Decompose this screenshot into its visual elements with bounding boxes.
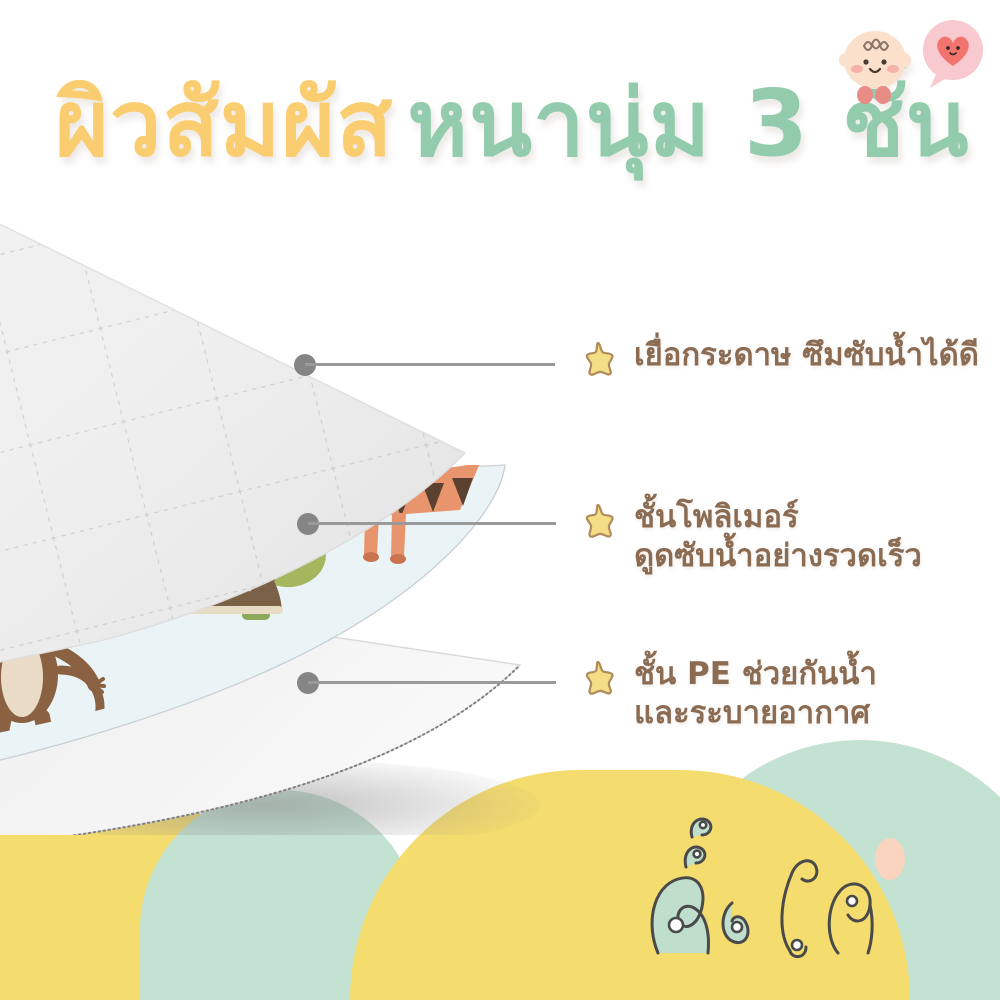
feature-item-pulp: เยื่อกระดาษ ซึมซับน้ำได้ดี — [578, 336, 979, 384]
star-icon — [578, 502, 618, 546]
headline-part-1: ผิวสัมผัส — [55, 78, 393, 170]
feature-item-pe: ชั้น PE ช่วยกันน้ำ และระบายอากาศ — [578, 655, 877, 733]
product-layers-illustration — [0, 165, 660, 835]
leader-line — [308, 681, 556, 684]
feature-text: เยื่อกระดาษ ซึมซับน้ำได้ดี — [634, 336, 979, 375]
egg-icon — [875, 838, 905, 880]
leader-line — [308, 522, 556, 525]
poster-canvas: ผิวสัมผัสหนานุ่ม 3 ชั้น เยื่อกระดาษ ซึมซ… — [0, 0, 1000, 1000]
feature-item-polymer: ชั้นโพลิเมอร์ ดูดซับน้ำอย่างรวดเร็ว — [578, 498, 922, 576]
feature-text: ชั้นโพลิเมอร์ ดูดซับน้ำอย่างรวดเร็ว — [634, 498, 922, 576]
star-icon — [578, 659, 618, 703]
leader-line — [305, 363, 555, 366]
logo-part-yellow — [782, 861, 872, 957]
brand-logo — [640, 815, 930, 965]
logo-part-green — [652, 819, 748, 953]
feature-text: ชั้น PE ช่วยกันน้ำ และระบายอากาศ — [634, 655, 877, 733]
page-title: ผิวสัมผัสหนานุ่ม 3 ชั้น — [55, 78, 945, 208]
baby-head-mascot — [838, 22, 912, 112]
star-icon — [578, 340, 618, 384]
heart-speech-bubble — [916, 18, 990, 100]
